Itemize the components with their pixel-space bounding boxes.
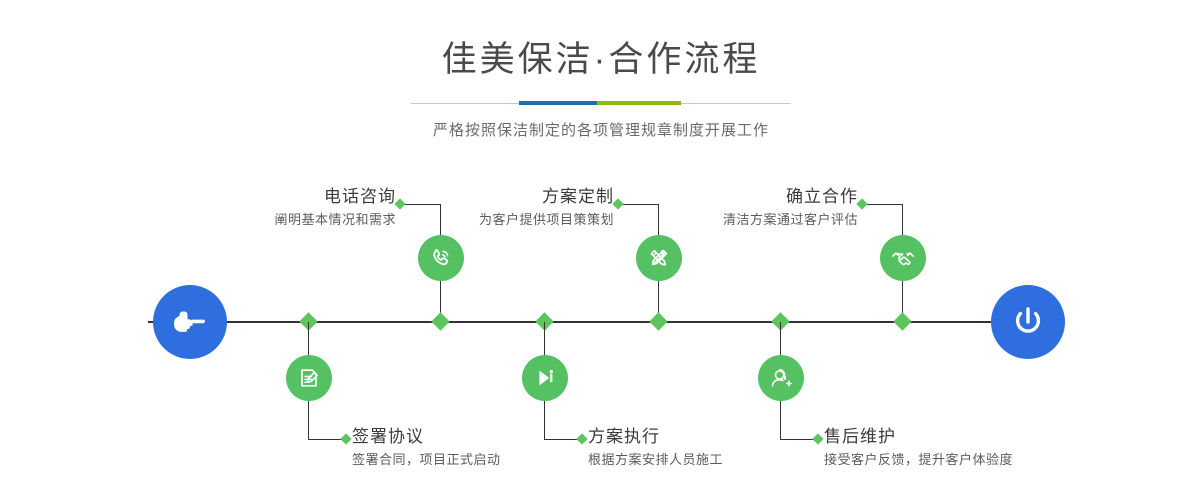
step-4-label: 方案执行 根据方案安排人员施工 xyxy=(588,426,723,470)
step-3-label: 方案定制 为客户提供项目策策划 xyxy=(380,186,614,230)
divider-accent-blue xyxy=(519,101,597,105)
flow-diagram-page: 佳美保洁·合作流程 严格按照保洁制定的各项管理规章制度开展工作 xyxy=(0,0,1202,502)
pointing-hand-icon xyxy=(170,302,210,342)
step-3-desc: 为客户提供项目策策划 xyxy=(380,210,614,230)
step-2-title: 签署协议 xyxy=(352,426,501,448)
step-5-connector-horizontal xyxy=(864,204,902,205)
step-6-label: 售后维护 接受客户反馈，提升客户体验度 xyxy=(824,426,1013,470)
power-icon xyxy=(1007,301,1049,343)
step-1-label: 电话咨询 阐明基本情况和需求 xyxy=(150,186,396,230)
step-4-desc: 根据方案安排人员施工 xyxy=(588,450,723,470)
step-6-desc: 接受客户反馈，提升客户体验度 xyxy=(824,450,1013,470)
page-title: 佳美保洁·合作流程 xyxy=(0,38,1202,82)
step-1-title: 电话咨询 xyxy=(150,186,396,208)
step-2-label-marker xyxy=(340,433,351,444)
title-divider xyxy=(411,96,791,112)
step-3-icon-badge xyxy=(636,235,682,281)
timeline-end-node xyxy=(991,285,1065,359)
step-5-label: 确立合作 清洁方案通过客户评估 xyxy=(628,186,858,230)
step-6-title: 售后维护 xyxy=(824,426,1013,448)
step-2-desc: 签署合同，项目正式启动 xyxy=(352,450,501,470)
step-5-axis-marker xyxy=(893,312,911,330)
step-5-title: 确立合作 xyxy=(628,186,858,208)
divider-accent-green xyxy=(597,101,681,105)
timeline-start-node xyxy=(153,285,227,359)
step-2-label: 签署协议 签署合同，项目正式启动 xyxy=(352,426,501,470)
step-4-label-marker xyxy=(576,433,587,444)
play-execute-icon xyxy=(531,364,559,392)
handshake-icon xyxy=(889,244,917,272)
page-header: 佳美保洁·合作流程 严格按照保洁制定的各项管理规章制度开展工作 xyxy=(0,0,1202,142)
page-subtitle: 严格按照保洁制定的各项管理规章制度开展工作 xyxy=(0,120,1202,142)
step-6-label-marker xyxy=(812,433,823,444)
step-2-icon-badge xyxy=(286,355,332,401)
step-5-icon-badge xyxy=(880,235,926,281)
document-sign-icon xyxy=(295,364,323,392)
customer-service-icon xyxy=(767,364,795,392)
step-4-title: 方案执行 xyxy=(588,426,723,448)
step-5-label-marker xyxy=(856,198,867,209)
pencil-ruler-icon xyxy=(645,244,673,272)
step-1-axis-marker xyxy=(431,312,449,330)
step-3-axis-marker xyxy=(649,312,667,330)
step-1-icon-badge xyxy=(418,235,464,281)
step-4-icon-badge xyxy=(522,355,568,401)
step-3-label-marker xyxy=(612,198,623,209)
step-1-desc: 阐明基本情况和需求 xyxy=(150,210,396,230)
step-6-icon-badge xyxy=(758,355,804,401)
step-5-desc: 清洁方案通过客户评估 xyxy=(628,210,858,230)
timeline-axis xyxy=(148,321,1054,323)
phone-call-icon xyxy=(427,244,455,272)
step-3-title: 方案定制 xyxy=(380,186,614,208)
